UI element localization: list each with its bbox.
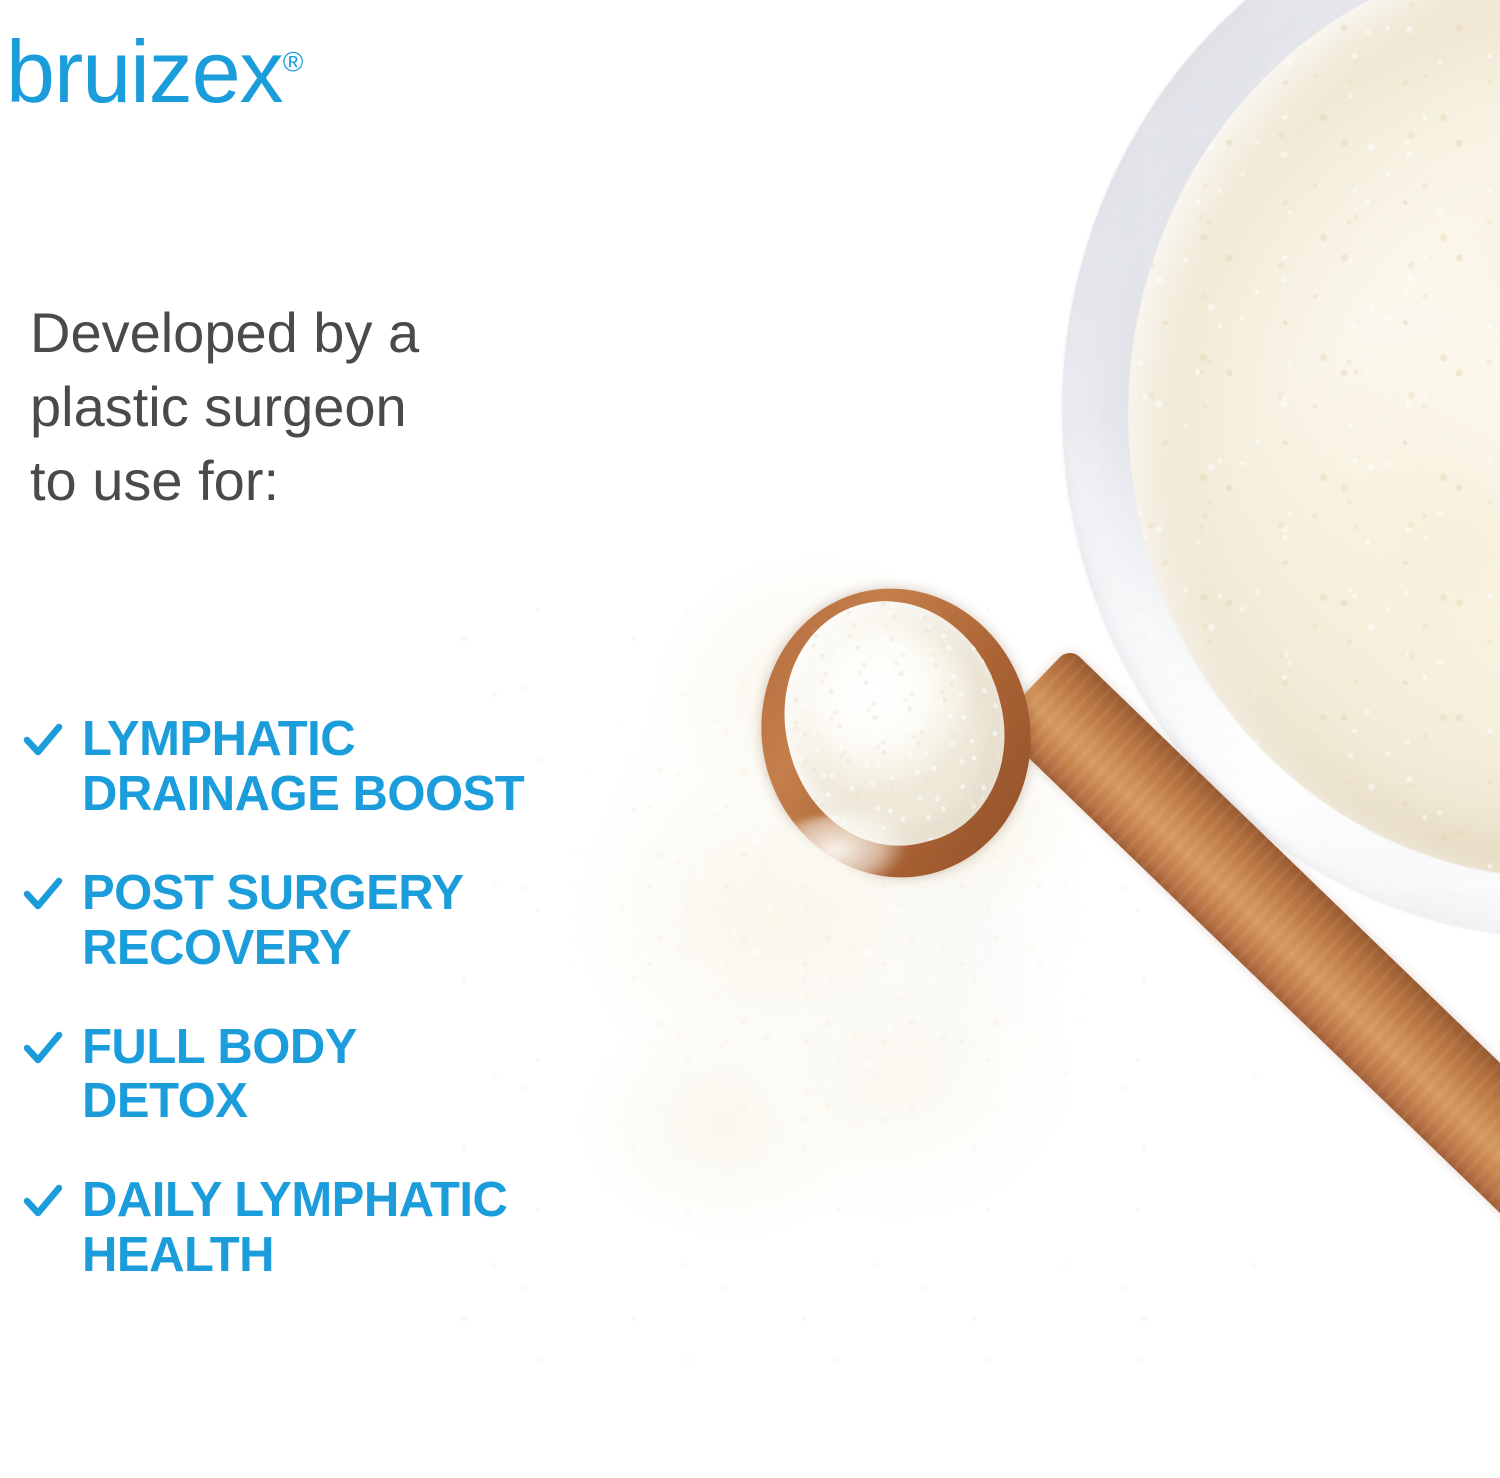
benefit-item: DAILY LYMPHATIC HEALTH	[22, 1173, 782, 1283]
product-feature-image: bruizex® Developed by a plastic surgeon …	[0, 0, 1500, 1478]
check-icon	[22, 718, 64, 764]
check-icon	[22, 1179, 64, 1225]
brand-logo-text: bruizex	[6, 22, 283, 121]
benefit-item: FULL BODY DETOX	[22, 1020, 782, 1130]
benefits-list: LYMPHATIC DRAINAGE BOOST POST SURGERY RE…	[22, 712, 782, 1283]
benefit-label: LYMPHATIC DRAINAGE BOOST	[82, 712, 524, 822]
check-icon	[22, 1026, 64, 1072]
marketing-copy: bruizex® Developed by a plastic surgeon …	[0, 0, 1500, 1478]
headline: Developed by a plastic surgeon to use fo…	[30, 296, 590, 518]
check-icon	[22, 872, 64, 918]
headline-line-1: Developed by a	[30, 296, 590, 370]
benefit-label: DAILY LYMPHATIC HEALTH	[82, 1173, 507, 1283]
benefit-item: LYMPHATIC DRAINAGE BOOST	[22, 712, 782, 822]
headline-line-2: plastic surgeon	[30, 370, 590, 444]
headline-line-3: to use for:	[30, 444, 590, 518]
benefit-label: POST SURGERY RECOVERY	[82, 866, 464, 976]
benefit-label: FULL BODY DETOX	[82, 1020, 357, 1130]
brand-logo: bruizex®	[6, 28, 303, 116]
registered-trademark-icon: ®	[283, 47, 304, 78]
benefit-item: POST SURGERY RECOVERY	[22, 866, 782, 976]
